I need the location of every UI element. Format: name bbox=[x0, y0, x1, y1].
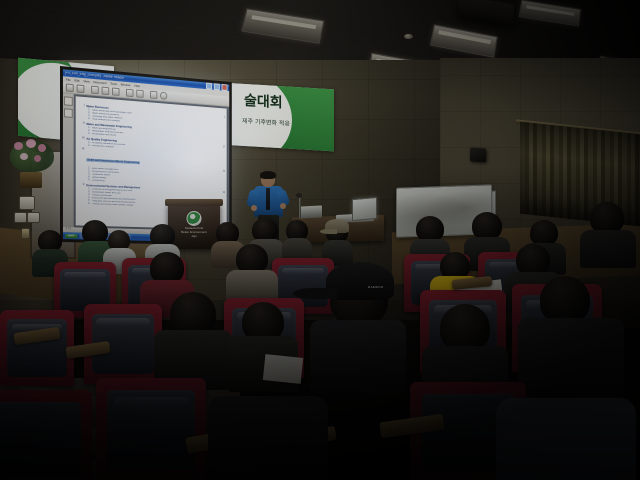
toc-page-number: 27 bbox=[223, 146, 225, 148]
podium-top-surface bbox=[165, 199, 223, 206]
audience: DAEWOO 학술대회 논문집 bbox=[0, 206, 640, 480]
sprinkler-icon bbox=[404, 34, 413, 39]
menu-item-tools[interactable]: Tools bbox=[110, 82, 117, 86]
toc-page-number: 95 bbox=[223, 192, 225, 194]
toc-section-number: III bbox=[80, 137, 85, 147]
prev-page-icon[interactable] bbox=[126, 89, 133, 97]
zoom-out-icon[interactable] bbox=[91, 86, 99, 95]
print-icon[interactable] bbox=[77, 84, 85, 93]
toc-section-title: Solid and Hazardous Waste Engineering bbox=[86, 159, 140, 165]
menu-item-document[interactable]: Document bbox=[93, 80, 106, 84]
menu-item-file[interactable]: File bbox=[66, 78, 71, 81]
toc-section-number: II bbox=[80, 122, 85, 135]
microphone-icon bbox=[296, 193, 302, 198]
toc-sub-text: Composting bbox=[92, 180, 105, 183]
open-icon[interactable] bbox=[66, 84, 74, 93]
toc-sub-number: 5. bbox=[86, 180, 90, 183]
find-icon[interactable] bbox=[160, 92, 167, 100]
bookmarks-icon[interactable] bbox=[64, 96, 73, 106]
toc-section-number: V bbox=[80, 184, 85, 206]
next-page-icon[interactable] bbox=[136, 90, 143, 98]
toc-section-number: IV bbox=[80, 149, 85, 182]
handout-paper bbox=[263, 354, 304, 384]
toc-sub-number: 3. bbox=[86, 133, 90, 136]
toc-section-highlighted: IV Solid and Hazardous Waste Engineering… bbox=[80, 149, 225, 189]
lecture-hall-photo: 2 일시 술대회 제주 기후변화 적응 [PS_Env_Eng_2009.pdf… bbox=[0, 0, 640, 480]
auditorium-seat-foreground[interactable] bbox=[0, 390, 92, 480]
toc-sub-number: 2. bbox=[86, 144, 90, 147]
toc-page-number: 1 bbox=[224, 117, 225, 119]
presenter-hair bbox=[260, 171, 276, 179]
flower-arrangement bbox=[8, 138, 56, 190]
beige-cap bbox=[325, 219, 349, 233]
menu-item-edit[interactable]: Edit bbox=[75, 79, 80, 82]
zoom-in-icon[interactable] bbox=[102, 87, 110, 95]
auditorium-seat-foreground[interactable] bbox=[96, 378, 206, 480]
toc-page-number: 63 bbox=[223, 171, 225, 173]
menu-item-window[interactable]: Window bbox=[121, 83, 131, 87]
toc-sub-number: 4. bbox=[86, 118, 90, 121]
wall-speaker bbox=[470, 147, 486, 162]
menu-item-help[interactable]: Help bbox=[134, 84, 140, 87]
black-baseball-cap: DAEWOO bbox=[326, 262, 394, 300]
toc-sub-text: Atmospheric analysis bbox=[92, 145, 114, 149]
cap-logo-text: DAEWOO bbox=[368, 286, 383, 289]
select-icon[interactable] bbox=[150, 91, 157, 99]
toc-sub-text: Reclamation and reuse bbox=[92, 133, 116, 137]
pages-icon[interactable] bbox=[64, 108, 73, 118]
banner-right-text: 술대회 bbox=[244, 90, 283, 112]
toc-section-number: I bbox=[80, 105, 85, 121]
conference-banner-right: 술대회 제주 기후변화 적응 bbox=[222, 83, 334, 152]
fit-page-icon[interactable] bbox=[112, 88, 120, 96]
menu-item-view[interactable]: View bbox=[83, 80, 89, 84]
auditorium-seat[interactable] bbox=[0, 310, 74, 386]
